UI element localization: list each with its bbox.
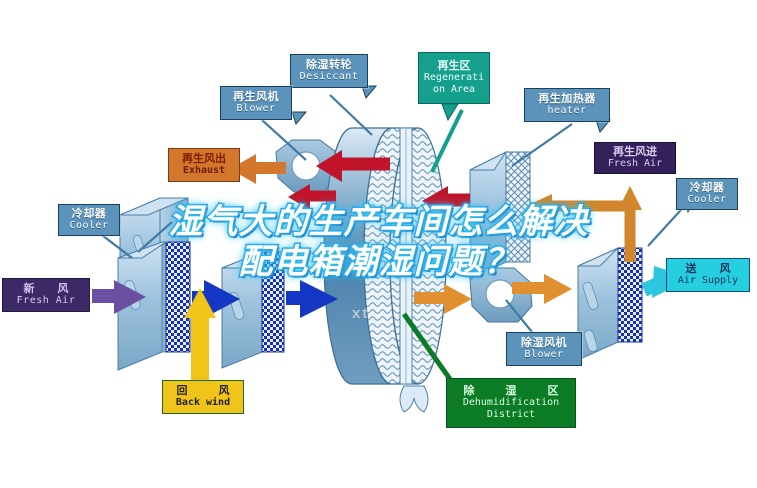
mixing-coil-unit bbox=[222, 252, 284, 368]
label-regen-heater-cn: 再生加热器 bbox=[538, 94, 596, 105]
label-back-wind-en: Back wind bbox=[176, 398, 230, 408]
dehum-blower-unit bbox=[470, 268, 532, 322]
regen-heater-unit bbox=[470, 152, 530, 280]
label-fresh-air: 新 风 Fresh Air bbox=[2, 278, 90, 312]
arrow-regen-fresh-orange bbox=[526, 186, 642, 262]
label-cooler-left: 冷却器 Cooler bbox=[58, 204, 120, 236]
label-dehum-blower-en: Blower bbox=[524, 350, 563, 360]
label-cooler-right: 冷却器 Cooler bbox=[676, 178, 738, 210]
label-air-supply-en: Air Supply bbox=[678, 276, 738, 286]
label-cooler-right-en: Cooler bbox=[687, 195, 726, 205]
label-desiccant-wheel: 除湿转轮 Desiccant bbox=[290, 54, 368, 88]
label-desiccant-wheel-cn: 除湿转轮 bbox=[306, 60, 352, 71]
supply-coil-unit bbox=[578, 248, 642, 360]
label-dehum-district-en2: District bbox=[487, 409, 535, 421]
label-regen-exhaust: 再生风出 Exhaust bbox=[168, 148, 240, 182]
label-dehum-blower: 除湿风机 Blower bbox=[506, 332, 582, 366]
label-dehum-blower-cn: 除湿风机 bbox=[521, 338, 567, 349]
label-regen-exhaust-en: Exhaust bbox=[183, 166, 225, 176]
label-fresh-air-en: Fresh Air bbox=[17, 296, 76, 306]
label-regen-fresh-air: 再生风进 Fresh Air bbox=[594, 142, 676, 174]
label-regen-blower-cn: 再生风机 bbox=[233, 92, 279, 103]
desiccant-wheel-unit bbox=[324, 128, 446, 412]
label-desiccant-wheel-en: Desiccant bbox=[300, 72, 359, 82]
label-cooler-right-cn: 冷却器 bbox=[690, 183, 725, 194]
label-regen-heater: 再生加热器 heater bbox=[524, 88, 610, 122]
dehumidifier-schematic bbox=[0, 0, 757, 488]
label-dehum-district-cn: 除 湿 区 bbox=[449, 386, 572, 397]
diagram-canvas: xt 除湿转轮 Desiccant 再生风机 Blower 再生风出 Exhau… bbox=[0, 0, 757, 488]
label-air-supply-cn: 送 风 bbox=[675, 264, 740, 275]
label-regen-fresh-air-en: Fresh Air bbox=[608, 159, 662, 169]
label-dehum-district: 除 湿 区 Dehumidification District bbox=[446, 378, 576, 428]
label-back-wind-cn: 回 风 bbox=[162, 386, 243, 397]
label-regeneration-area-cn: 再生区 bbox=[438, 61, 471, 72]
label-regen-blower-en: Blower bbox=[236, 104, 275, 114]
label-regeneration-area-en1: Regenerati bbox=[424, 72, 484, 84]
label-air-supply: 送 风 Air Supply bbox=[666, 258, 750, 292]
label-cooler-left-cn: 冷却器 bbox=[72, 209, 107, 220]
label-regen-heater-en: heater bbox=[547, 106, 586, 116]
label-regen-exhaust-cn: 再生风出 bbox=[182, 154, 226, 165]
label-regeneration-area: 再生区 Regenerati on Area bbox=[418, 52, 490, 104]
label-regen-fresh-air-cn: 再生风进 bbox=[613, 147, 657, 158]
label-fresh-air-cn: 新 风 bbox=[13, 284, 78, 295]
label-regeneration-area-en2: on Area bbox=[433, 84, 475, 96]
label-regen-blower: 再生风机 Blower bbox=[220, 86, 292, 120]
watermark: xt bbox=[352, 305, 369, 322]
label-dehum-district-en1: Dehumidification bbox=[463, 397, 559, 409]
label-cooler-left-en: Cooler bbox=[69, 221, 108, 231]
label-back-wind: 回 风 Back wind bbox=[162, 380, 244, 414]
